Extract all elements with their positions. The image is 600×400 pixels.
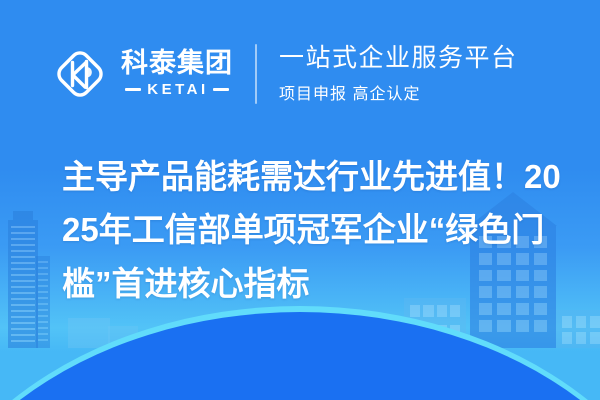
promo-banner: 科泰集团 KETAI 一站式企业服务平台 项目申报 高企认定 主导产品能耗需达行… [0, 0, 600, 400]
skyline-lowrise-far-right-icon [556, 310, 600, 348]
header-divider [255, 44, 257, 104]
tagline-primary: 一站式企业服务平台 [279, 44, 518, 73]
skyline-lowrise-left-icon [68, 318, 110, 348]
brand-logo[interactable]: 科泰集团 KETAI [52, 46, 233, 102]
skyline-tower-left-secondary-icon [36, 256, 50, 348]
headline-text: 主导产品能耗需达行业先进值！2025年工信部单项冠军企业“绿色门槛”首进核心指标 [62, 150, 564, 310]
rounded-diamond-kt-monogram-icon [52, 46, 108, 102]
tagline-block: 一站式企业服务平台 项目申报 高企认定 [279, 44, 518, 104]
wordmark-rule-left [125, 88, 141, 91]
brand-name-cn: 科泰集团 [121, 50, 233, 78]
brand-name-en-row: KETAI [121, 81, 233, 98]
wordmark-rule-right [213, 88, 229, 91]
skyline-tower-left-icon [8, 220, 38, 348]
tagline-secondary: 项目申报 高企认定 [279, 80, 518, 104]
banner-header: 科泰集团 KETAI 一站式企业服务平台 项目申报 高企认定 [0, 34, 600, 114]
brand-wordmark: 科泰集团 KETAI [121, 50, 233, 98]
brand-name-en: KETAI [147, 81, 208, 98]
